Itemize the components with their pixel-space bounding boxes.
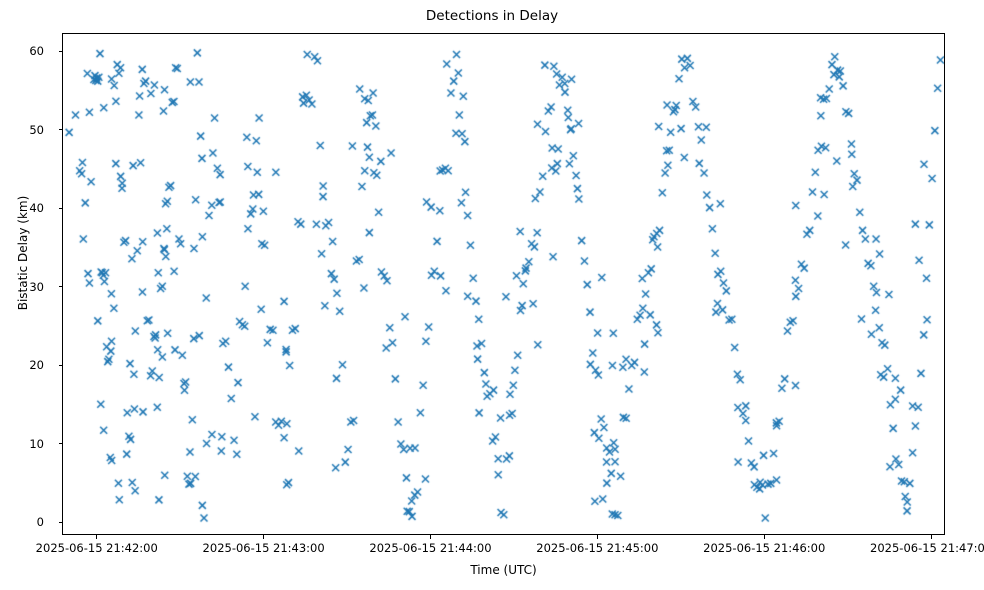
y-tick-label: 50 — [29, 123, 44, 137]
x-tick-label: 2025-06-15 21:43:00 — [203, 541, 325, 555]
y-tick-mark — [59, 129, 63, 130]
x-tick-mark — [96, 535, 97, 539]
y-tick-label: 20 — [29, 358, 44, 372]
y-tick-mark — [59, 365, 63, 366]
y-tick-mark — [59, 443, 63, 444]
page-title: Detections in Delay — [0, 8, 984, 24]
plot-area — [62, 33, 945, 535]
y-tick-label: 40 — [29, 201, 44, 215]
y-tick-mark — [59, 522, 63, 523]
x-tick-label: 2025-06-15 21:45:00 — [536, 541, 658, 555]
x-tick-label: 2025-06-15 21:42:00 — [36, 541, 158, 555]
y-axis-label: Bistatic Delay (km) — [16, 2, 30, 504]
y-tick-label: 10 — [29, 437, 44, 451]
x-tick-mark — [764, 535, 765, 539]
y-tick-mark — [59, 51, 63, 52]
x-tick-mark — [430, 535, 431, 539]
x-tick-mark — [263, 535, 264, 539]
x-tick-label: 2025-06-15 21:46:00 — [703, 541, 825, 555]
y-tick-mark — [59, 286, 63, 287]
x-tick-mark — [597, 535, 598, 539]
y-tick-label: 60 — [29, 44, 44, 58]
x-tick-mark — [931, 535, 932, 539]
y-tick-label: 30 — [29, 280, 44, 294]
x-tick-label: 2025-06-15 21:44:00 — [369, 541, 491, 555]
y-tick-label: 0 — [37, 515, 44, 529]
x-tick-label: 2025-06-15 21:47:00 — [870, 541, 984, 555]
y-tick-mark — [59, 208, 63, 209]
x-axis-label: Time (UTC) — [62, 563, 945, 577]
scatter-points-layer — [63, 34, 945, 535]
scatter-plot-figure: Detections in Delay 2025-06-15 21:42:002… — [0, 0, 984, 590]
